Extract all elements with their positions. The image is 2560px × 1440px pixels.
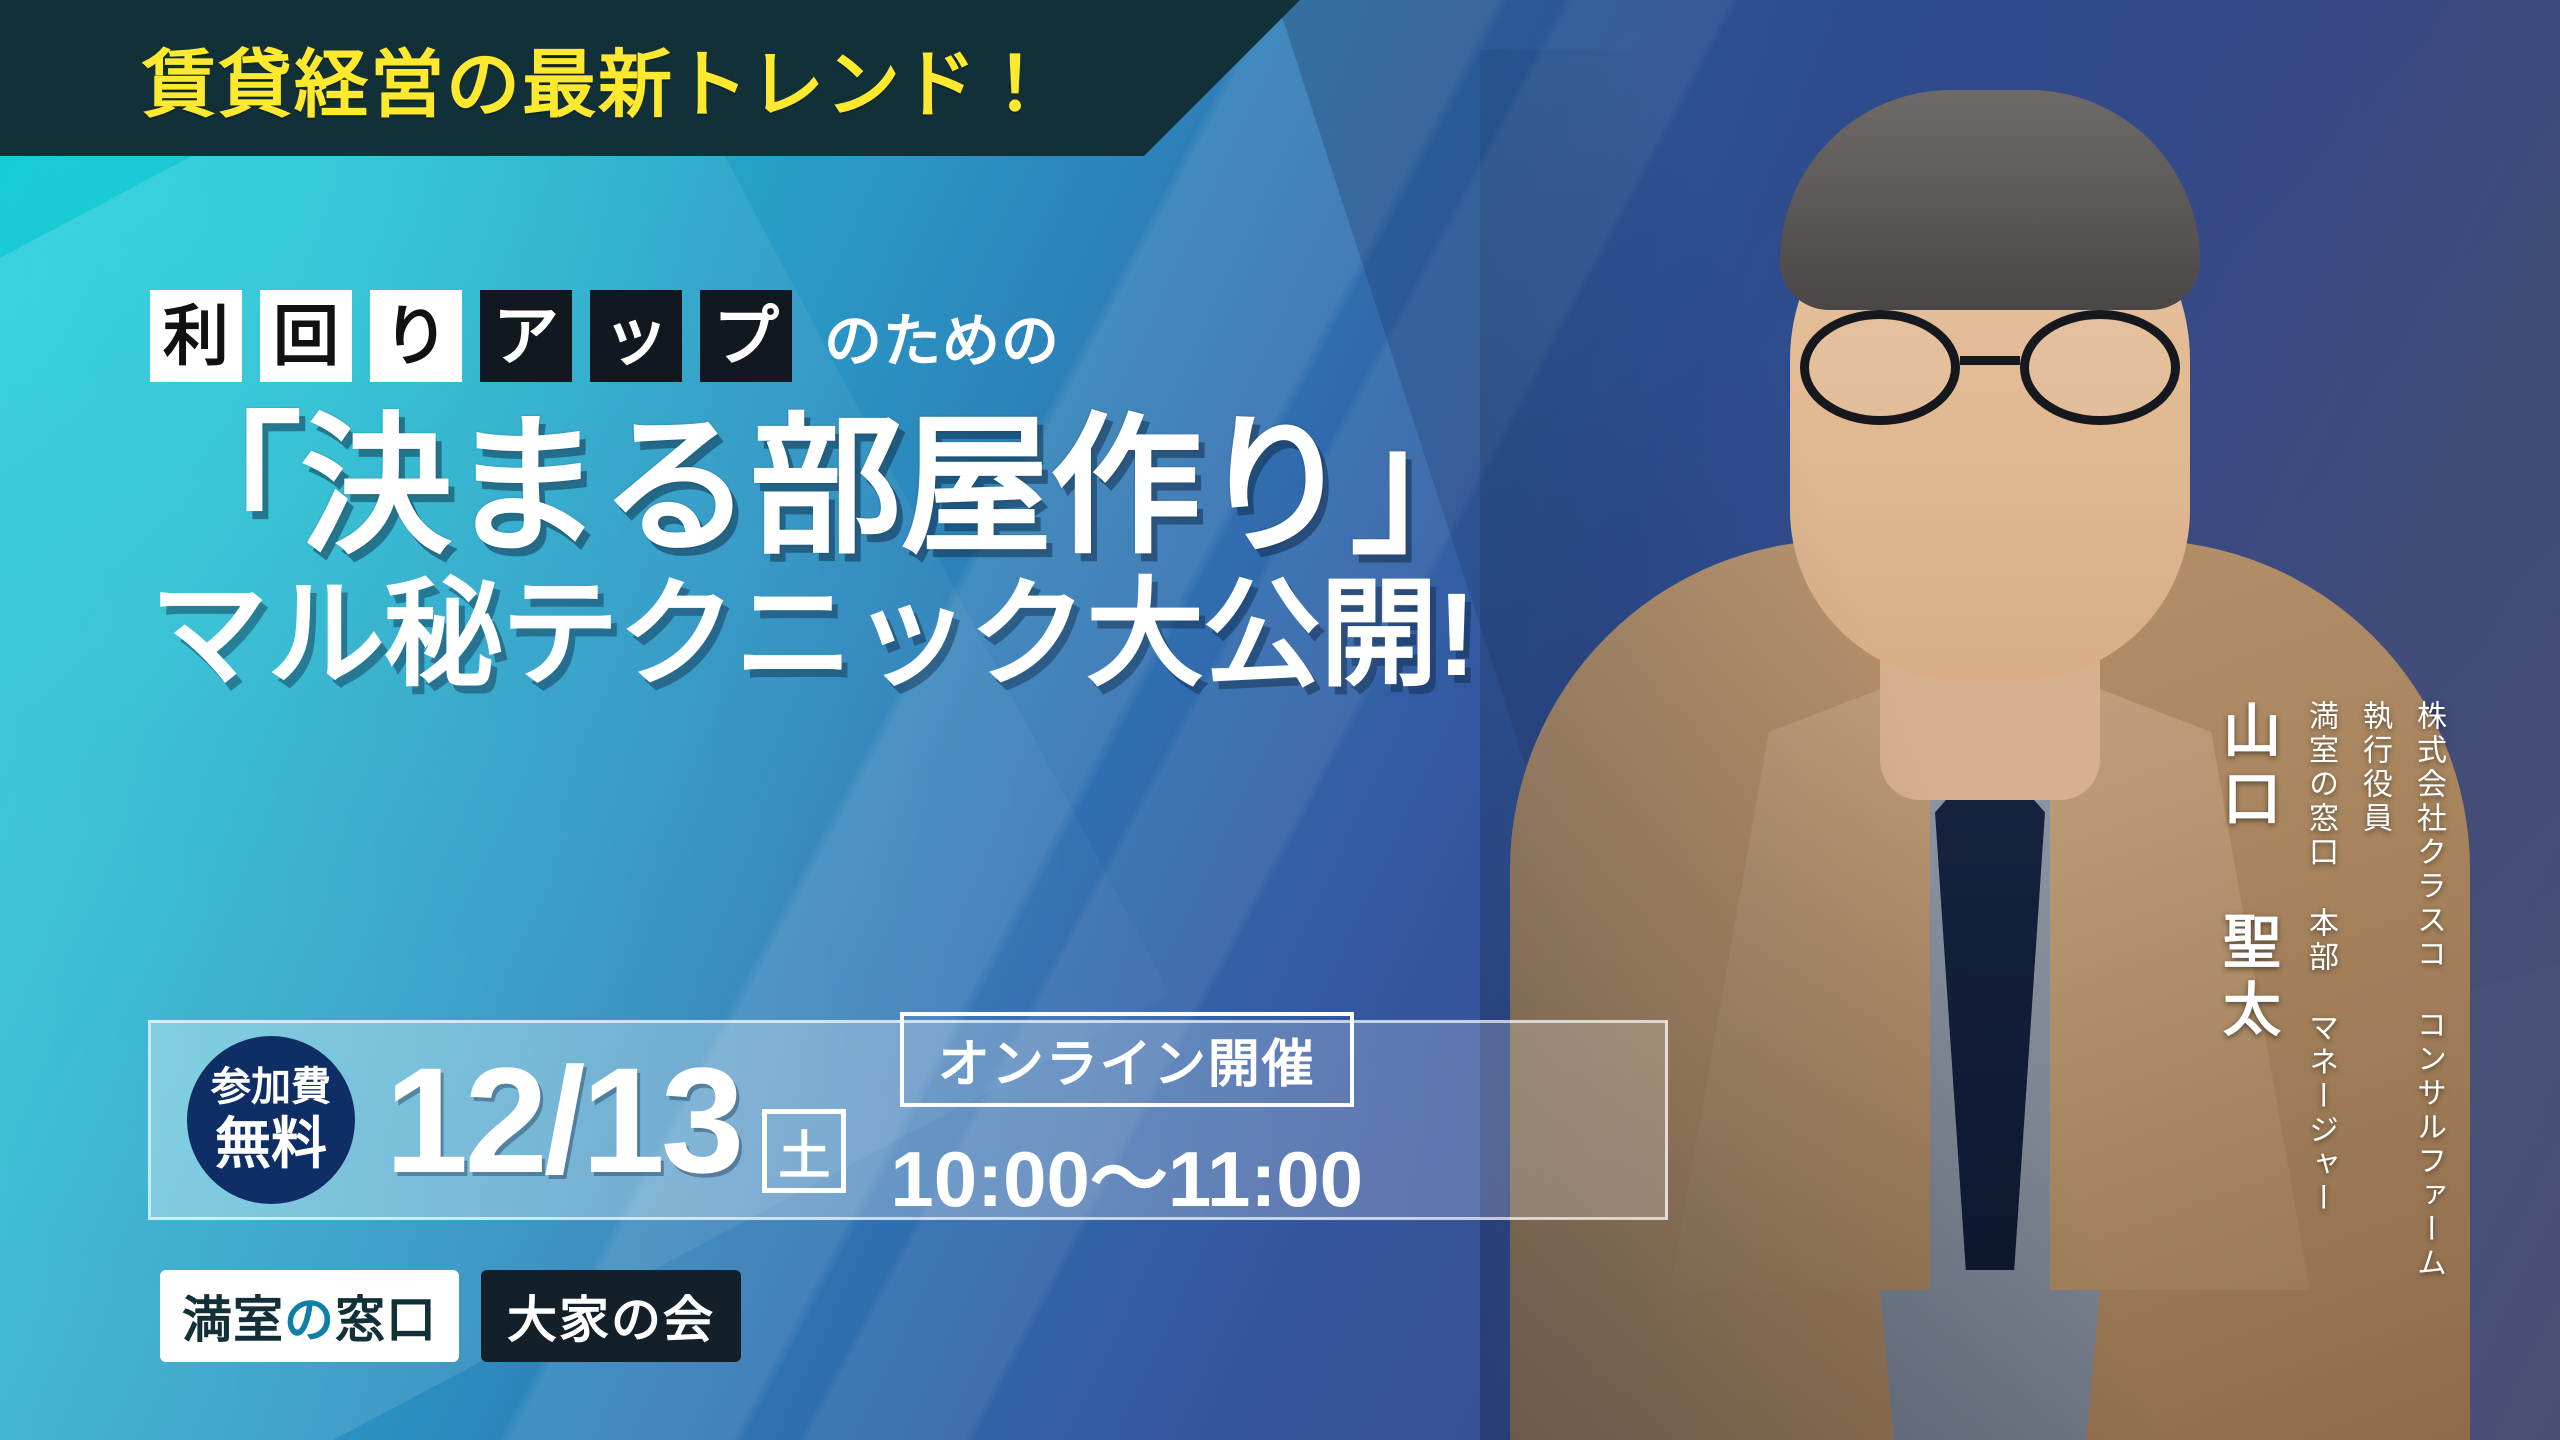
speaker-name: 山口 聖太 bbox=[2204, 700, 2288, 1281]
event-format: オンライン開催 bbox=[900, 1012, 1354, 1107]
speaker-title: 執行役員 bbox=[2352, 700, 2396, 1281]
logo1-part2: 窓口 bbox=[335, 1292, 437, 1348]
event-day-of-week: 土 bbox=[762, 1109, 846, 1193]
boxed-char-5: ッ bbox=[590, 290, 682, 382]
logo1-part1: 満室 bbox=[182, 1292, 284, 1348]
event-time: 10:00〜11:00 bbox=[890, 1117, 1363, 1229]
glasses-icon bbox=[1800, 310, 2180, 430]
boxed-char-2: 回 bbox=[260, 290, 352, 382]
logo-manshitsu-no-madoguchi: 満室の窓口 bbox=[160, 1270, 459, 1362]
speaker-company: 株式会社クラスコ コンサルファーム bbox=[2406, 700, 2450, 1281]
boxed-char-4: ア bbox=[480, 290, 572, 382]
speaker-hair bbox=[1780, 90, 2200, 310]
speaker-credit: 株式会社クラスコ コンサルファーム 執行役員 満室の窓口 本部 マネージャー 山… bbox=[2204, 700, 2450, 1281]
boxed-char-6: プ bbox=[700, 290, 792, 382]
boxed-char-1: 利 bbox=[150, 290, 242, 382]
seminar-banner: 賃貸経営の最新トレンド！ 利 回 り ア ッ プ のための 「決まる部屋作り」 … bbox=[0, 0, 2560, 1440]
event-date: 12/13 bbox=[385, 1045, 740, 1195]
fee-badge: 参加費 無料 bbox=[187, 1036, 355, 1204]
boxed-char-3: り bbox=[370, 290, 462, 382]
event-format-group: オンライン開催 10:00〜11:00 bbox=[890, 1012, 1363, 1229]
headline-sub: マル秘テクニック大公開! bbox=[150, 572, 1850, 699]
event-info-bar: 参加費 無料 12/13 土 オンライン開催 10:00〜11:00 bbox=[148, 1020, 1668, 1220]
headline-boxed-line: 利 回 り ア ッ プ のための bbox=[150, 290, 1850, 382]
logo2-label: 大家の会 bbox=[507, 1292, 715, 1348]
ribbon-text: 賃貸経営の最新トレンド！ bbox=[142, 25, 1054, 132]
speaker-department: 満室の窓口 本部 マネージャー bbox=[2298, 700, 2342, 1281]
headline-block: 利 回 り ア ッ プ のための 「決まる部屋作り」 マル秘テクニック大公開! bbox=[150, 290, 1850, 700]
headline-main: 「決まる部屋作り」 bbox=[150, 408, 1850, 566]
top-ribbon: 賃貸経営の最新トレンド！ bbox=[0, 0, 1300, 156]
glasses-bridge bbox=[1960, 356, 2020, 365]
fee-badge-label: 参加費 bbox=[211, 1065, 331, 1109]
logo1-accent: の bbox=[284, 1292, 335, 1348]
headline-suffix: のための bbox=[824, 294, 1060, 382]
logo-ooya-no-kai: 大家の会 bbox=[481, 1270, 741, 1362]
logo-group: 満室の窓口 大家の会 bbox=[160, 1270, 741, 1362]
glasses-lens-right bbox=[2020, 310, 2180, 425]
fee-badge-value: 無料 bbox=[215, 1113, 327, 1175]
